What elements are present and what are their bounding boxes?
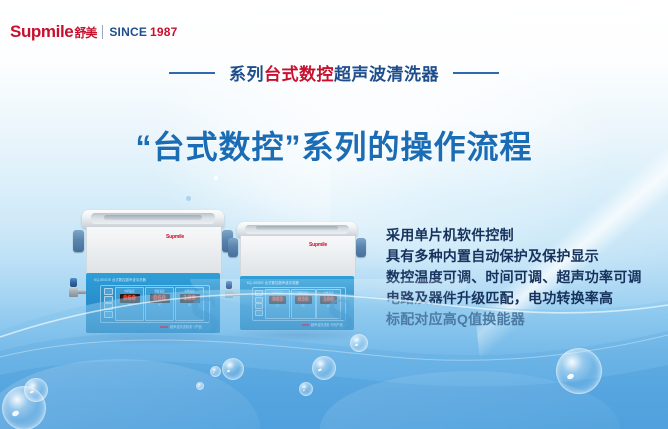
slide-root: Supmile 舒美 SINCE 1987 系列台式数控超声波清洗器 “台式数控… [0, 0, 668, 429]
lid-small [237, 222, 357, 237]
led-value: 100 [183, 295, 196, 302]
led-display: 003 [269, 296, 286, 304]
brand-logo: Supmile 舒美 SINCE 1987 [10, 22, 178, 42]
panel-key[interactable] [104, 296, 113, 303]
valve-body-large [69, 286, 78, 297]
feature-item: 具有多种内置自动保护及保护显示 [386, 246, 666, 267]
bubble [2, 386, 46, 429]
led-value: 060 [123, 295, 136, 302]
background-sparkle-2 [186, 196, 191, 201]
panel-model-label-large: KQ-500DE 台式数控超声波清洗器 [94, 277, 146, 282]
led-value: 003 [272, 297, 283, 303]
meter-caption: 功率设定 [184, 289, 194, 293]
bubble [222, 358, 244, 380]
meter-caption: 时间设定 [124, 289, 134, 293]
panel-key[interactable] [255, 297, 263, 303]
feature-item: 数控温度可调、时间可调、超声功率可调 [386, 267, 666, 288]
meter-time-small[interactable]: 时间设定 003 ⏱ [265, 289, 290, 319]
meter-icon-temperature: ℃ [158, 303, 162, 307]
panel-key[interactable] [255, 290, 263, 296]
lid-large [82, 210, 224, 228]
lid-slot-large [104, 215, 202, 220]
led-display: 060 [150, 294, 170, 303]
handle-right-small [356, 238, 366, 257]
panel-footer-text: 超声波清洗机系列产品 [170, 324, 202, 329]
tank-brand-logo-large: Supmile [166, 234, 184, 240]
tank-brand-logo-small: Supmile [309, 242, 327, 248]
logo-since-text: SINCE [109, 25, 147, 39]
meter-caption: 温度设定 [298, 291, 308, 295]
banner-suffix: 超声波清洗器 [334, 65, 439, 84]
bubble [312, 356, 336, 380]
feature-item: 电路及器件升级匹配，电功转换率高 [386, 288, 666, 309]
background-sparkle-1 [214, 176, 218, 180]
meter-icon-timer: ⏱ [128, 303, 131, 307]
panel-key[interactable] [104, 311, 113, 318]
handle-left-small [228, 238, 238, 257]
tank-body-large [86, 227, 222, 273]
machine-small: Supmile KQ-300DE 台式数控超声波清洗器 时间设定 003 ⏱ [233, 222, 361, 334]
meter-temp-small[interactable]: 温度设定 030 ℃ [291, 289, 316, 319]
feature-item: 标配对应高Q值换能器 [386, 309, 666, 330]
bubble [299, 382, 313, 396]
led-display: 100 [180, 294, 200, 303]
handle-left-large [73, 230, 84, 252]
panel-model-label-small: KQ-300DE 台式数控超声波清洗器 [247, 280, 299, 285]
led-value: 060 [153, 295, 166, 302]
panel-key[interactable] [255, 310, 263, 316]
led-value: 030 [298, 297, 309, 303]
banner-highlight: 台式数控 [264, 65, 334, 84]
panel-footer-bar [302, 324, 309, 326]
logo-divider [102, 25, 103, 39]
tank-body-small [240, 236, 356, 276]
bubble [24, 378, 48, 402]
logo-brand-chinese: 舒美 [74, 24, 96, 41]
valve-knob-large[interactable] [70, 278, 77, 287]
meter-group-large: 时间设定 060 ⏱ 温度设定 060 ℃ 功率设定 100 [115, 287, 204, 319]
page-title: “台式数控”系列的操作流程 [0, 122, 668, 168]
banner-rule-right [453, 72, 499, 74]
logo-brand-text: Supmile [10, 22, 73, 42]
panel-footer-text: 超声波清洗机系列产品 [311, 322, 343, 327]
control-panel-small: KQ-300DE 台式数控超声波清洗器 时间设定 003 ⏱ 温度设定 [240, 276, 354, 330]
meter-group-small: 时间设定 003 ⏱ 温度设定 030 ℃ 功率设定 100 [265, 289, 341, 317]
banner-rule-left [169, 72, 215, 74]
logo-year-text: 1987 [150, 25, 178, 39]
feature-item: 采用单片机软件控制 [386, 225, 666, 246]
bubble [556, 348, 602, 394]
meter-caption: 时间设定 [272, 291, 282, 295]
panel-footer-large: 超声波清洗机系列产品 [160, 324, 202, 329]
panel-key[interactable] [255, 303, 263, 309]
keypad-column-small[interactable] [255, 290, 261, 316]
panel-footer-bar [160, 326, 168, 328]
meter-icon-temperature: ℃ [301, 304, 305, 308]
banner-prefix: 系列 [229, 65, 264, 84]
section-banner: 系列台式数控超声波清洗器 [0, 60, 668, 85]
meter-icon-power: ⏻ [327, 304, 330, 308]
meter-icon-power: ⏻ [188, 303, 191, 307]
meter-icon-timer: ⏱ [276, 304, 279, 308]
feature-list: 采用单片机软件控制 具有多种内置自动保护及保护显示 数控温度可调、时间可调、超声… [386, 225, 666, 330]
bubble [210, 366, 221, 377]
led-display: 060 [120, 294, 140, 303]
meter-temp-large[interactable]: 温度设定 060 ℃ [145, 287, 174, 321]
bubble [196, 382, 204, 390]
led-value: 100 [323, 297, 334, 303]
keypad-column-large[interactable] [104, 288, 111, 318]
machine-large: Supmile KQ-500DE 台式数控超声波清洗器 时间设定 060 ⏱ [78, 210, 228, 337]
led-display: 030 [295, 296, 312, 304]
led-display: 100 [320, 296, 337, 304]
meter-time-large[interactable]: 时间设定 060 ⏱ [115, 287, 144, 321]
meter-power-large[interactable]: 功率设定 100 ⏻ [175, 287, 204, 321]
banner-text: 系列台式数控超声波清洗器 [229, 60, 439, 85]
control-panel-large: KQ-500DE 台式数控超声波清洗器 时间设定 060 ⏱ [86, 273, 220, 333]
panel-footer-small: 超声波清洗机系列产品 [302, 322, 343, 327]
meter-caption: 功率设定 [323, 291, 333, 295]
valve-knob-small[interactable] [226, 281, 232, 289]
lid-slot-small [256, 226, 338, 230]
valve-body-small [225, 288, 233, 298]
meter-caption: 温度设定 [154, 289, 164, 293]
panel-key[interactable] [104, 288, 113, 295]
meter-power-small[interactable]: 功率设定 100 ⏻ [316, 289, 341, 319]
panel-key[interactable] [104, 303, 113, 310]
